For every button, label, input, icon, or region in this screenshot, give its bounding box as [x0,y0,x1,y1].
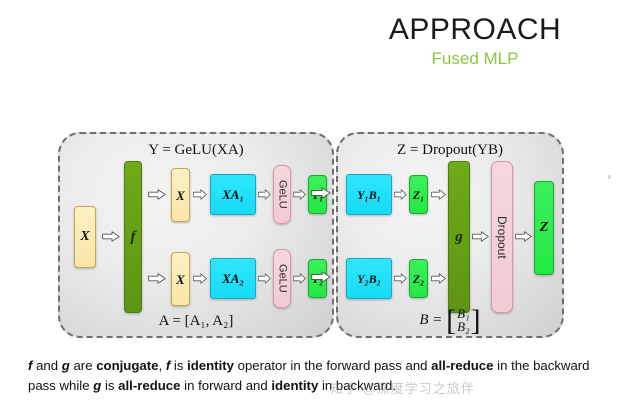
node-y1b1: Y₁B₁ [346,174,392,215]
arrow-y2b2-to-z2 [394,273,407,284]
caption-text-2: are [70,358,96,373]
arrow-xa1-to-gelu1 [258,189,271,200]
node-y1: Y₁ [308,175,327,214]
fused-mlp-diagram: Y = GeLU(XA) X f X [0,122,618,352]
caption-allreduce-1: all-reduce [431,358,493,373]
node-x-branch-1: X [171,168,190,222]
caption-text-5: operator in the forward pass and [234,358,431,373]
caption-conjugate: conjugate [96,358,158,373]
caption-allreduce-2: all-reduce [118,378,180,393]
node-y2b2: Y₂B₂ [346,258,392,299]
slide-header: APPROACH Fused MLP [340,14,610,67]
caption-text-9: in backward. [318,378,396,393]
panel-dropout-title: Z = Dropout(YB) [338,142,562,159]
node-z2: Z₂ [409,259,428,298]
panel-gelu: Y = GeLU(XA) X f X [58,132,334,338]
footer-b-lhs: B = [419,312,442,328]
matrix-b1: B₁ [457,307,469,321]
node-g-operator: g [448,161,470,313]
node-x-branch-2: X [171,252,190,306]
bracket-open: [ [446,309,456,332]
caption-identity-2: identity [271,378,318,393]
node-z-output: Z [534,181,554,275]
node-z1: Z₁ [409,175,428,214]
panel-dropout-footer: B = [ B₁ B₂ ] [338,307,562,334]
caption-text-3: , [158,358,165,373]
arrow-f-to-x2 [148,273,166,284]
node-y2: Y₂ [308,259,327,298]
arrow-x2-to-xa2 [193,273,207,284]
matrix-b2: B₂ [457,320,469,334]
footer-b-matrix: [ B₁ B₂ ] [446,307,480,334]
arrow-x-to-f [102,231,120,242]
arrow-z1-to-g [431,189,446,200]
caption-identity-1: identity [187,358,234,373]
arrow-xa2-to-gelu2 [258,273,271,284]
diagram-caption: f and g are conjugate, f is identity ope… [28,356,594,395]
caption-text-4: is [170,358,187,373]
caption-text-1: and [32,358,61,373]
arrow-g-to-dropout [472,231,489,242]
arrow-z2-to-g [431,273,446,284]
node-gelu-1: GeLU [273,165,291,224]
panel-gelu-title: Y = GeLU(XA) [60,142,332,159]
arrow-gelu1-to-y1 [293,189,306,200]
arrow-dropout-to-z [515,231,532,242]
caption-text-8: in forward and [180,378,271,393]
node-dropout: Dropout [491,161,513,313]
arrow-f-to-x1 [148,189,166,200]
node-xa1: XA₁ [210,174,256,215]
node-input-x: X [74,206,96,268]
node-xa2: XA₂ [210,258,256,299]
node-gelu-2: GeLU [273,249,291,308]
caption-text-7: is [101,378,118,393]
page-title: APPROACH [340,14,610,46]
bracket-close: ] [471,309,481,332]
panel-dropout: Z = Dropout(YB) Y₁B₁ Y₂B₂ Z₁ Z₂ [336,132,564,338]
node-f-operator: f [124,161,142,313]
panel-gelu-footer: A = [A₁, A₂] [60,313,332,330]
corner-artifact [608,175,611,179]
caption-g-1: g [62,358,70,373]
page-subtitle: Fused MLP [340,50,610,68]
arrow-x1-to-xa1 [193,189,207,200]
arrow-y1b1-to-z1 [394,189,407,200]
arrow-gelu2-to-y2 [293,273,306,284]
